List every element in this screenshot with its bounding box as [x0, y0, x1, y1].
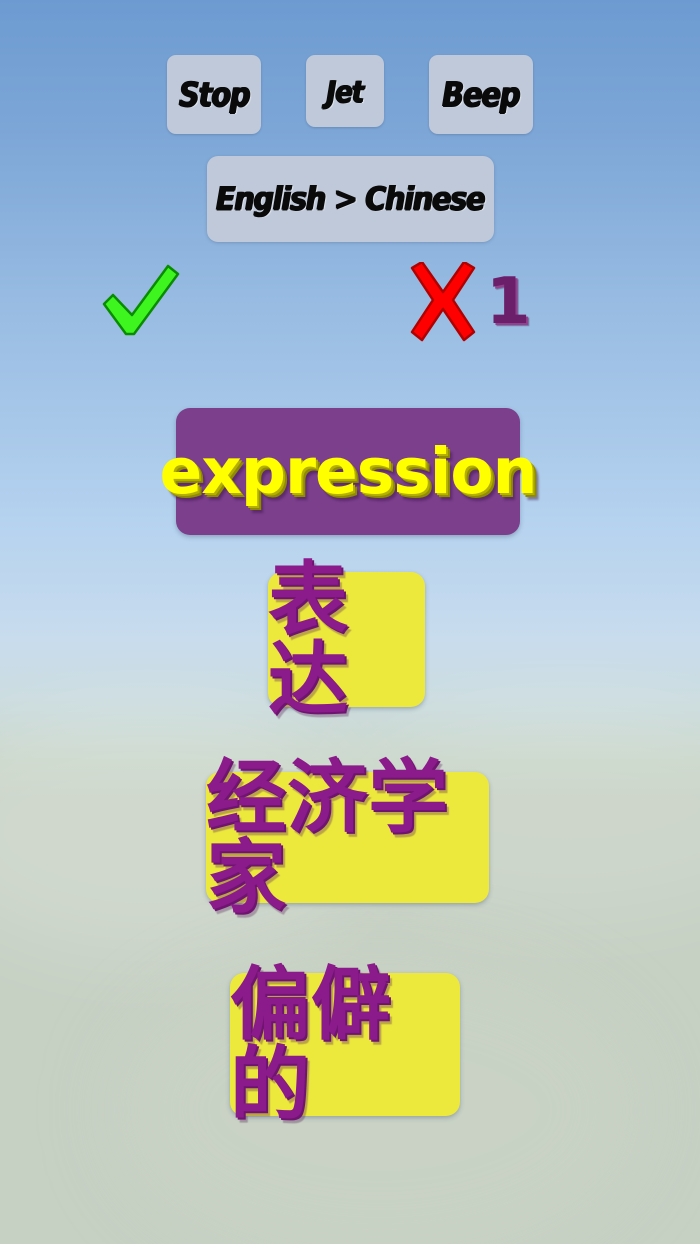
score-row: 1 [0, 252, 700, 352]
prompt-word-card[interactable]: expression [176, 408, 520, 535]
wrong-score-group: 1 [404, 252, 531, 352]
correct-score-group [100, 252, 186, 352]
answer-option-2[interactable]: 经济学家 [206, 772, 489, 903]
prompt-word-text: expression [160, 440, 537, 503]
answer-option-1-text: 表达 [268, 560, 425, 720]
beep-button[interactable]: Beep [429, 55, 533, 134]
jet-button-label: Jet [327, 73, 364, 109]
answer-option-3[interactable]: 偏僻的 [230, 973, 460, 1116]
answer-option-3-text: 偏僻的 [230, 965, 460, 1125]
language-direction-row: English > Chinese [0, 156, 700, 242]
cross-icon [404, 262, 482, 342]
language-direction-button[interactable]: English > Chinese [207, 156, 494, 242]
wrong-count: 1 [486, 270, 531, 334]
stop-button-label: Stop [179, 75, 250, 114]
control-button-row: Stop Jet Beep [0, 55, 700, 134]
stop-button[interactable]: Stop [167, 55, 261, 134]
jet-button[interactable]: Jet [306, 55, 384, 127]
answer-option-2-text: 经济学家 [206, 758, 489, 918]
language-direction-label: English > Chinese [216, 180, 484, 217]
check-icon [100, 262, 182, 342]
answer-option-1[interactable]: 表达 [268, 572, 425, 707]
beep-button-label: Beep [442, 75, 519, 114]
flashcard-quiz-screen: Stop Jet Beep English > Chinese [0, 0, 700, 1244]
